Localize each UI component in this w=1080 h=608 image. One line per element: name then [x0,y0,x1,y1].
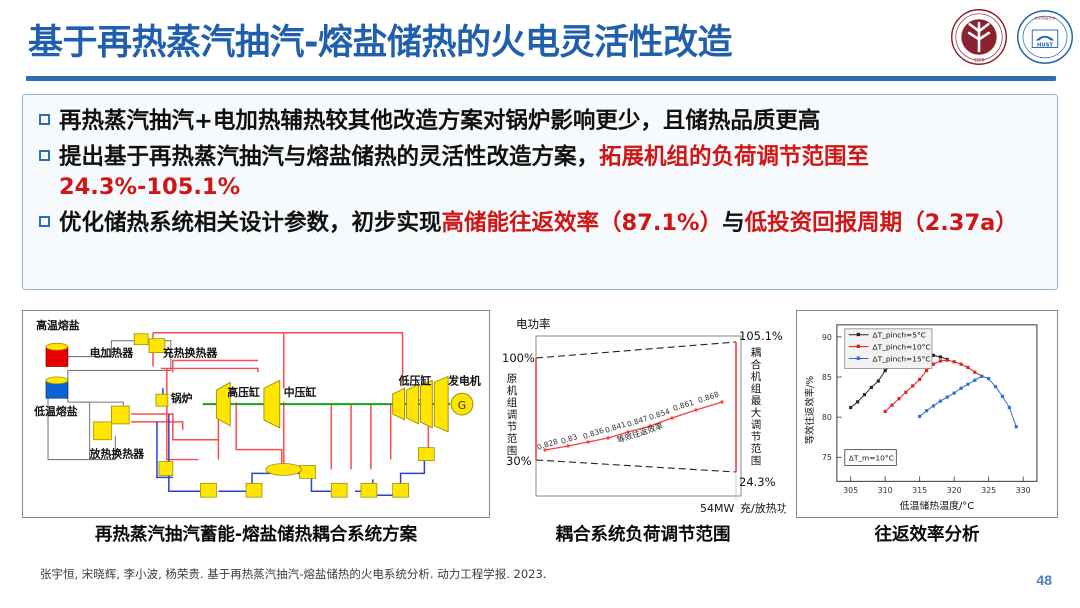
label-charging-hx: 充热换热器 [163,346,217,360]
bullet-text: 再热蒸汽抽汽+电加热辅热较其他改造方案对锅炉影响更少，且储热品质更高 [59,107,820,136]
svg-text:机: 机 [507,384,518,397]
svg-text:范: 范 [507,432,518,445]
load-range-ylabel: 电功率 [516,317,551,331]
label-hot-salt-tank: 高温熔盐 [36,318,80,332]
svg-text:305: 305 [843,486,858,495]
label-hp-turbine: 高压缸 [227,385,260,399]
bullet-text: 优化储热系统相关设计参数，初步实现高储能往返效率（87.1%）与低投资回报周期（… [59,209,1018,238]
system-diagram-figure: G 高温熔盐 低温熔盐 电加热器 充热换热器 放热换热器 锅炉 高压缸 中压缸 … [22,310,490,518]
annotation-box: ΔT_m=10°C [845,450,897,466]
rt-ylabel: 等效往返效率/% [804,376,816,445]
original-range-vertical-label: 原机组 调节范 围 [507,373,518,457]
svg-text:机: 机 [751,370,762,383]
svg-text:315: 315 [912,486,927,495]
svg-text:G: G [458,399,466,412]
logo-group: ·1898· HUST 华中科技大学 [950,8,1074,66]
label-generator: 发电机 [447,373,481,387]
legend-label: ΔT_pinch=5°C [873,331,926,340]
label-boiler: 锅炉 [171,391,193,405]
ip-turbine [264,380,280,428]
key-points-panel: 再热蒸汽抽汽+电加热辅热较其他改造方案对锅炉影响更少，且储热品质更高 提出基于再… [22,94,1058,290]
svg-text:组: 组 [507,396,518,409]
svg-text:大: 大 [751,406,762,419]
chart-legend: ΔT_pinch=5°CΔT_pinch=10°CΔT_pinch=15°C [845,329,932,369]
svg-text:围: 围 [751,455,762,467]
svg-text:调: 调 [751,419,762,431]
slide-header: 基于再热蒸汽抽汽-熔盐储热的火电灵活性改造 ·1898· HUST 华中科技大学 [0,6,1080,68]
page-title: 基于再热蒸汽抽汽-熔盐储热的火电灵活性改造 [28,14,732,65]
reference-citation: 张宇恒, 宋晓辉, 李小波, 杨荣贵. 基于再热蒸汽抽汽-熔盐储热的火电系统分析… [40,566,840,582]
coupled-range-vertical-label: 耦合机 组最大 调节范 围 [751,347,762,467]
hust-logo: HUST 华中科技大学 [1016,8,1074,66]
caption-roundtrip-efficiency: 往返效率分析 [796,521,1058,546]
svg-text:90: 90 [822,333,832,342]
label-ip-turbine-2: 中压缸 [284,385,317,399]
load-range-figure: 0.828 0.83 0.836 0.841 0.847 0.854 0.861… [500,310,786,518]
svg-text:调: 调 [507,409,518,421]
load-range-xlabel: 充/放热功率 [740,501,786,515]
bullet-square-icon [39,150,50,161]
svg-text:310: 310 [878,486,893,495]
label-lp-turbine: 低压缸 [398,373,432,387]
bullet-square-icon [39,216,50,227]
rt-xlabel: 低温储热温度/°C [900,499,975,512]
svg-text:80: 80 [822,413,832,422]
svg-text:320: 320 [947,486,962,495]
bullet-item: 再热蒸汽抽汽+电加热辅热较其他改造方案对锅炉影响更少，且储热品质更高 [37,107,1043,136]
svg-text:合: 合 [751,358,762,371]
roundtrip-efficiency-figure: 75808590 305310315320325330 ΔT_pinch=5°C… [796,310,1058,518]
bullet-text: 提出基于再热蒸汽抽汽与熔盐储热的灵活性改造方案，拓展机组的负荷调节范围至24.3… [59,143,1043,202]
svg-text:HUST: HUST [1037,42,1053,48]
label-24-percent: 24.3% [739,475,776,489]
title-divider [26,76,1056,81]
svg-text:耦: 耦 [751,347,762,359]
cold-salt-tank [46,377,68,398]
caption-system-diagram: 再热蒸汽抽汽蓄能-熔盐储热耦合系统方案 [22,521,490,546]
annotation-delta-tm: ΔT_m=10°C [849,454,894,463]
label-105-percent: 105.1% [739,329,783,343]
generator-symbol: G [451,393,473,415]
svg-text:围: 围 [507,445,518,457]
label-discharging-hx: 放热换热器 [89,447,144,461]
svg-text:组: 组 [751,382,762,395]
label-cold-salt-tank: 低温熔盐 [33,404,78,418]
legend-label: ΔT_pinch=10°C [873,343,931,352]
x-tick-54mw: 54MW [700,502,734,515]
svg-text:最: 最 [751,395,762,407]
label-electric-heater: 电加热器 [90,346,134,360]
label-100-percent: 100% [502,351,535,365]
svg-text:范: 范 [751,442,762,455]
svg-text:节: 节 [751,431,762,443]
bullet-item: 优化储热系统相关设计参数，初步实现高储能往返效率（87.1%）与低投资回报周期（… [37,209,1043,238]
svg-text:330: 330 [1016,486,1031,495]
peking-university-logo: ·1898· [950,8,1008,66]
svg-text:华中科技大学: 华中科技大学 [1035,16,1056,21]
legend-label: ΔT_pinch=15°C [873,355,931,364]
svg-text:325: 325 [981,486,996,495]
svg-text:原: 原 [507,373,518,385]
bullet-item: 提出基于再热蒸汽抽汽与熔盐储热的灵活性改造方案，拓展机组的负荷调节范围至24.3… [37,143,1043,202]
svg-text:·1898·: ·1898· [973,57,986,62]
page-number: 48 [1036,572,1052,588]
svg-text:75: 75 [822,453,832,462]
hot-salt-tank [46,343,68,366]
caption-load-range: 耦合系统负荷调节范围 [500,521,786,546]
bullet-square-icon [39,114,50,125]
svg-text:85: 85 [822,373,832,382]
svg-text:节: 节 [507,421,518,433]
